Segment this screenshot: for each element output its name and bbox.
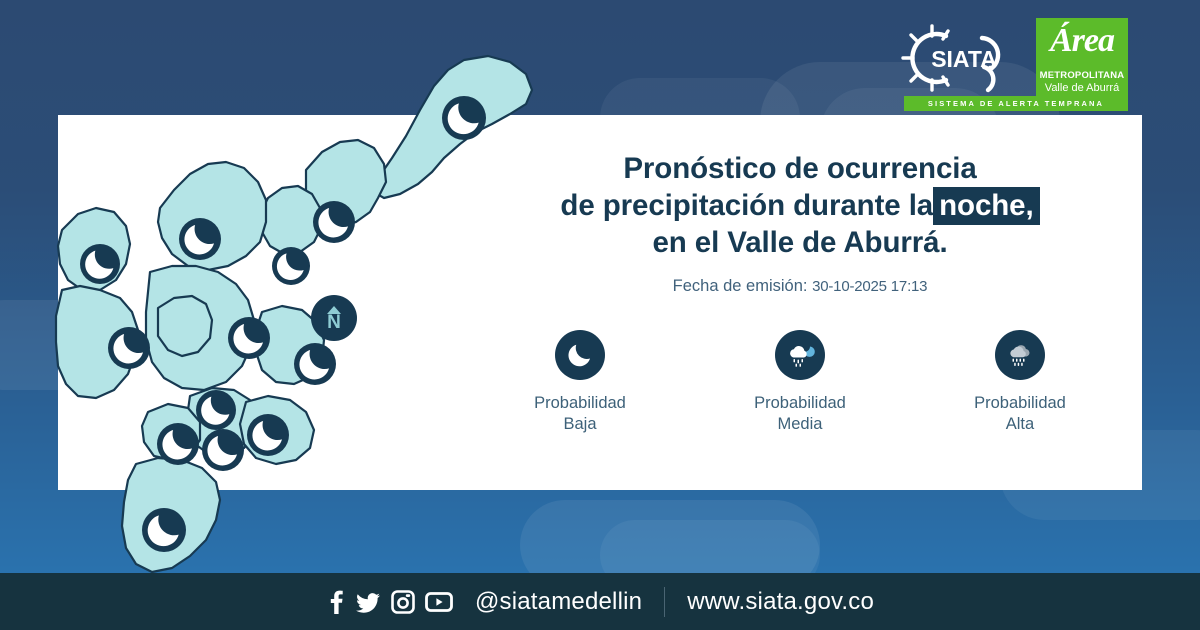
legend-label-alta: Probabilidad Alta — [974, 393, 1066, 435]
valle-de-aburra-map: N — [40, 40, 560, 600]
siata-logo: SIATA — [898, 18, 1030, 98]
map-marker-moon[interactable] — [196, 390, 236, 430]
tagline-banner: SISTEMA DE ALERTA TEMPRANA — [904, 96, 1128, 111]
moon-icon — [196, 390, 236, 430]
instagram-icon[interactable] — [390, 589, 416, 615]
legend-label-baja-line1: Probabilidad — [534, 394, 626, 412]
moon-cloud-rain-icon — [783, 338, 817, 372]
compass-north-icon: N — [311, 295, 357, 341]
legend-label-baja: Probabilidad Baja — [534, 393, 626, 435]
sun-cloud-icon: SIATA — [898, 18, 1030, 98]
twitter-icon[interactable] — [355, 589, 381, 615]
title-highlight-noche: noche, — [933, 187, 1039, 225]
page-title: Pronóstico de ocurrencia de precipitació… — [470, 150, 1130, 261]
map-marker-moon[interactable] — [142, 508, 186, 552]
footer-bar: @siatamedellin www.siata.gov.co — [0, 573, 1200, 630]
map-marker-moon[interactable] — [313, 201, 355, 243]
legend-label-baja-line2: Baja — [563, 415, 596, 433]
area-logo-sub2: Valle de Aburrá — [1036, 82, 1128, 94]
emission-value: 30-10-2025 17:13 — [812, 278, 927, 295]
moon-icon — [272, 247, 310, 285]
legend-label-media-line2: Media — [778, 415, 823, 433]
moon-icon — [565, 340, 595, 370]
legend-icon-wrap-alta — [995, 330, 1045, 380]
youtube-icon[interactable] — [425, 591, 453, 613]
moon-icon — [228, 317, 270, 359]
social-links — [326, 589, 453, 615]
map-marker-moon[interactable] — [228, 317, 270, 359]
area-logo-script: Área — [1036, 22, 1128, 60]
legend-label-alta-line2: Alta — [1006, 415, 1034, 433]
legend-item-alta: Probabilidad Alta — [930, 330, 1110, 435]
title-line-3: en el Valle de Aburrá. — [652, 226, 947, 259]
emission-date: Fecha de emisión: 30-10-2025 17:13 — [470, 277, 1130, 296]
social-handle[interactable]: @siatamedellin — [475, 588, 642, 616]
map-marker-moon[interactable] — [80, 244, 120, 284]
emission-label: Fecha de emisión: — [673, 277, 808, 295]
title-line-2-pre: de precipitación durante la — [560, 189, 933, 222]
legend-label-alta-line1: Probabilidad — [974, 394, 1066, 412]
probability-legend: Probabilidad Baja Probabilidad Media — [470, 330, 1130, 435]
map-marker-moon[interactable] — [157, 423, 199, 465]
moon-icon — [142, 508, 186, 552]
area-metropolitana-logo: Área METROPOLITANA Valle de Aburrá — [1036, 18, 1128, 100]
legend-item-media: Probabilidad Media — [710, 330, 890, 435]
moon-icon — [80, 244, 120, 284]
map-marker-moon[interactable] — [294, 343, 336, 385]
logo-area: SIATA Área METROPOLITANA Valle de Aburrá — [898, 18, 1128, 100]
title-line-1: Pronóstico de ocurrencia — [623, 152, 976, 185]
moon-icon — [442, 96, 486, 140]
moon-icon — [157, 423, 199, 465]
area-logo-sub1: METROPOLITANA — [1036, 70, 1128, 81]
legend-icon-wrap-media — [775, 330, 825, 380]
map-marker-moon[interactable] — [179, 218, 221, 260]
map-marker-moon[interactable] — [442, 96, 486, 140]
cloud-heavy-rain-icon — [1003, 338, 1037, 372]
legend-label-media: Probabilidad Media — [754, 393, 846, 435]
svg-text:SIATA: SIATA — [931, 46, 997, 72]
moon-icon — [313, 201, 355, 243]
map-marker-moon[interactable] — [247, 414, 289, 456]
legend-label-media-line1: Probabilidad — [754, 394, 846, 412]
tagline-text: SISTEMA DE ALERTA TEMPRANA — [928, 99, 1104, 108]
footer-divider — [664, 587, 665, 617]
moon-icon — [247, 414, 289, 456]
moon-icon — [202, 429, 244, 471]
legend-icon-wrap-baja — [555, 330, 605, 380]
headline-block: Pronóstico de ocurrencia de precipitació… — [470, 150, 1130, 296]
map-marker-moon[interactable] — [272, 247, 310, 285]
website-url[interactable]: www.siata.gov.co — [687, 588, 874, 616]
map-marker-moon[interactable] — [108, 327, 150, 369]
compass-north-label: N — [327, 314, 341, 331]
moon-icon — [294, 343, 336, 385]
map-marker-moon[interactable] — [202, 429, 244, 471]
moon-icon — [179, 218, 221, 260]
facebook-icon[interactable] — [326, 589, 346, 615]
legend-item-baja: Probabilidad Baja — [490, 330, 670, 435]
moon-icon — [108, 327, 150, 369]
